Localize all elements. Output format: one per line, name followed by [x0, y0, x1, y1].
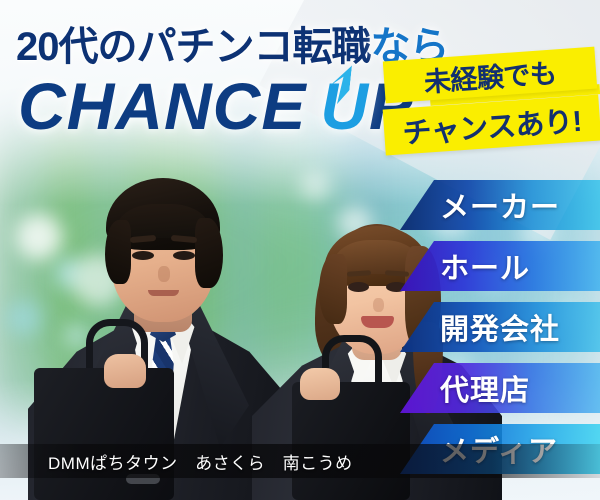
- category-button-label: 代理店: [440, 367, 530, 409]
- female-eye-left: [348, 282, 369, 292]
- male-hand: [104, 354, 146, 388]
- male-hair-side-right: [195, 218, 223, 288]
- female-mouth: [361, 316, 394, 328]
- caption-bar: DMMぱちタウン あさくら 南こうめ: [0, 444, 600, 478]
- male-nose: [158, 266, 170, 282]
- chance-up-logo: CHANCEUP: [18, 68, 414, 144]
- category-button-label: メーカー: [440, 184, 560, 226]
- recruitment-banner: 20代のパチンコ転職なら CHANCEUP 未経験でも チャンスあり! メーカー…: [0, 0, 600, 500]
- category-button-label: ホール: [440, 245, 530, 287]
- female-hand: [300, 368, 340, 400]
- category-button-label: 開発会社: [440, 306, 560, 348]
- category-button-2[interactable]: 開発会社: [400, 302, 600, 352]
- caption-text: DMMぱちタウン あさくら 南こうめ: [0, 449, 353, 474]
- male-hair-side-left: [105, 220, 131, 284]
- badge-line-2: チャンスあり!: [383, 95, 600, 156]
- male-mouth: [148, 290, 179, 296]
- category-button-list: メーカーホール開発会社代理店メディア: [400, 180, 600, 485]
- female-nose: [373, 298, 384, 312]
- headline-main: 20代のパチンコ転職: [16, 25, 371, 69]
- female-hair-side-left: [319, 254, 347, 324]
- briefcase-left: [34, 368, 174, 500]
- highlight-badge: 未経験でも チャンスあり!: [384, 54, 600, 152]
- male-eye-right: [173, 251, 195, 260]
- category-button-0[interactable]: メーカー: [400, 180, 600, 230]
- male-eye-left: [132, 251, 154, 260]
- category-button-3[interactable]: 代理店: [400, 363, 600, 413]
- logo-word-chance: CHANCE: [18, 69, 306, 143]
- category-button-1[interactable]: ホール: [400, 241, 600, 291]
- logo-letter-u: U: [320, 68, 369, 144]
